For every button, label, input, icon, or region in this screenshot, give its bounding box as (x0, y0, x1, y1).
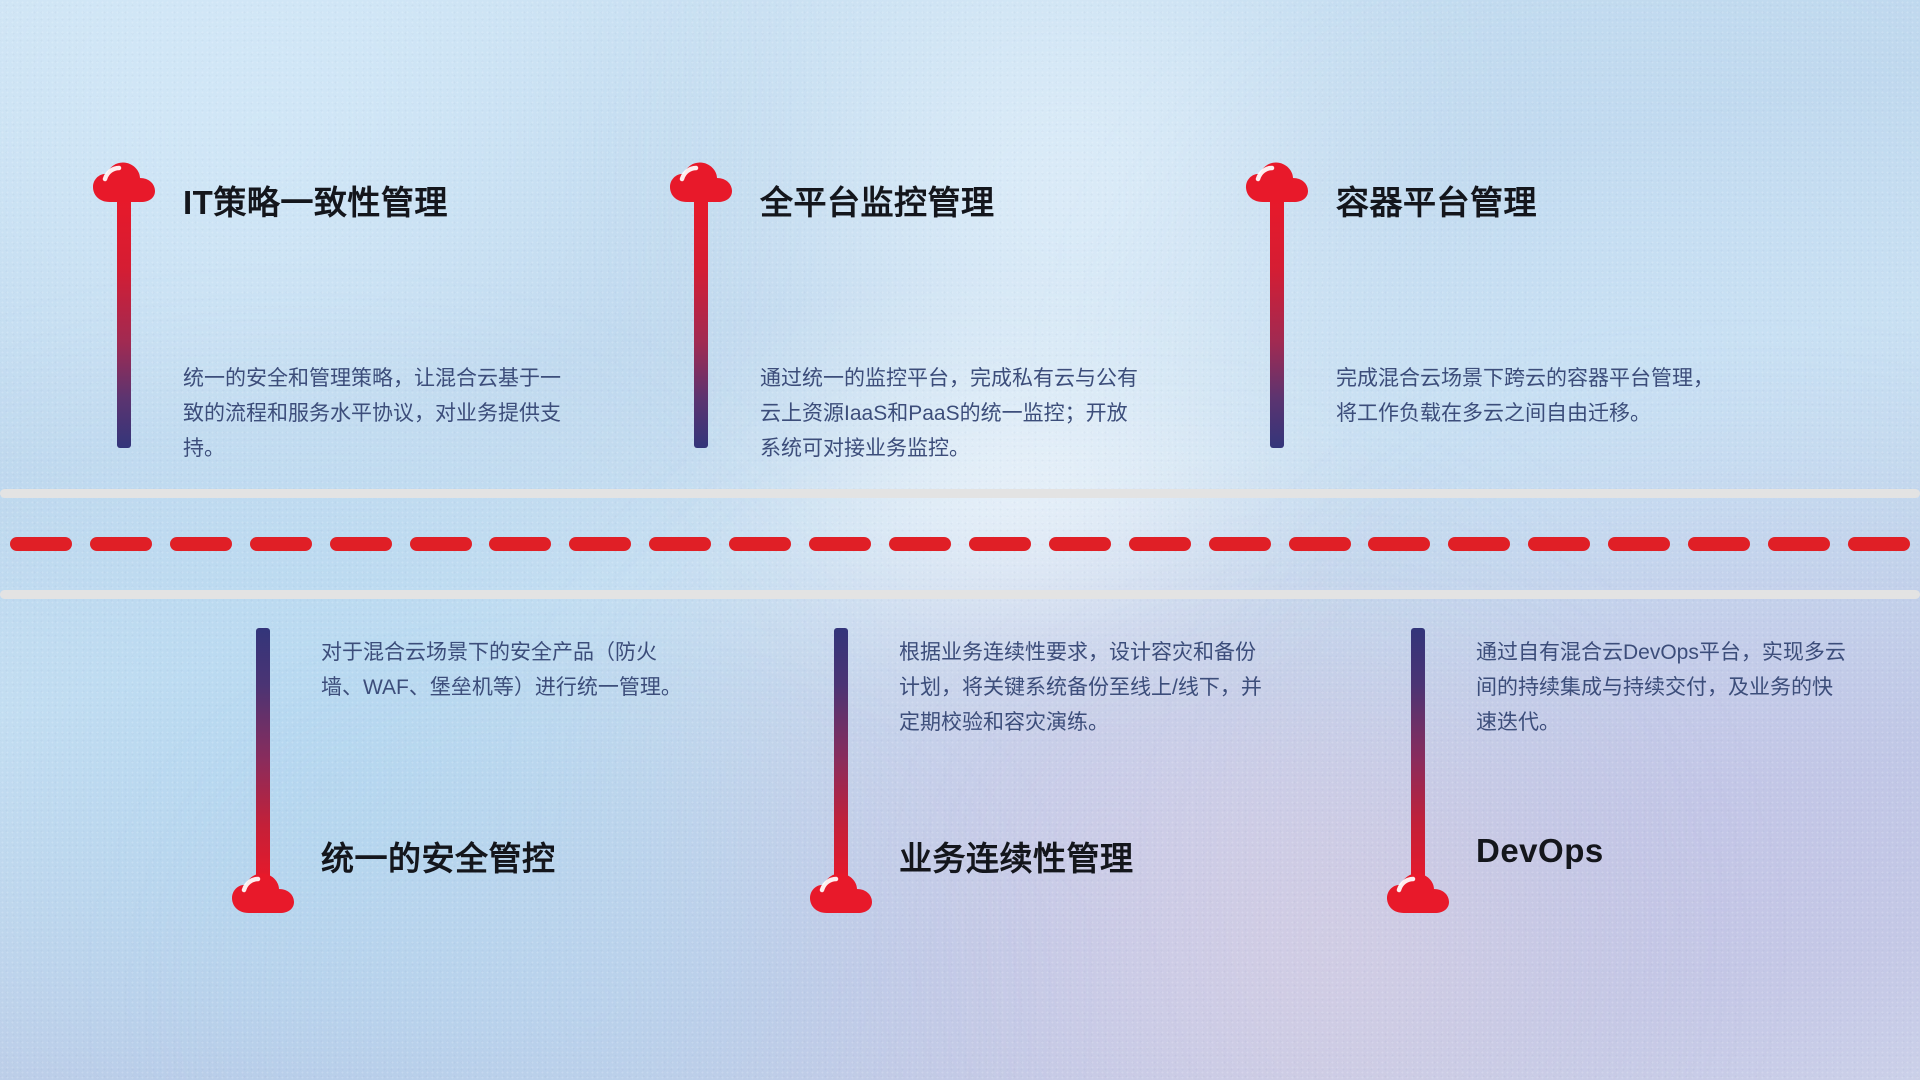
dash-segment (809, 537, 871, 551)
item-description: 通过自有混合云DevOps平台，实现多云间的持续集成与持续交付，及业务的快速迭代… (1476, 635, 1848, 740)
dash-segment (1209, 537, 1271, 551)
dash-segment (10, 537, 72, 551)
dashed-red-line (0, 537, 1920, 551)
dash-segment (1129, 537, 1191, 551)
dash-segment (90, 537, 152, 551)
divider-rule-top (0, 489, 1920, 498)
item-title: 业务连续性管理 (899, 832, 1134, 880)
dash-segment (410, 537, 472, 551)
dash-segment (969, 537, 1031, 551)
item-description: 根据业务连续性要求，设计容灾和备份计划，将关键系统备份至线上/线下，并定期校验和… (899, 635, 1271, 740)
timeline-stem (1270, 198, 1284, 448)
timeline-stem (1411, 628, 1425, 882)
dash-segment (1289, 537, 1351, 551)
dash-segment (1688, 537, 1750, 551)
item-title: 统一的安全管控 (321, 832, 556, 880)
cloud-icon (1386, 871, 1450, 916)
dash-segment (1848, 537, 1910, 551)
dash-segment (489, 537, 551, 551)
timeline-stem (834, 628, 848, 882)
item-title: 全平台监控管理 (760, 176, 995, 224)
cloud-icon (231, 871, 295, 916)
dash-segment (1368, 537, 1430, 551)
item-description: 通过统一的监控平台，完成私有云与公有云上资源IaaS和PaaS的统一监控；开放系… (760, 361, 1140, 466)
dash-segment (1049, 537, 1111, 551)
cloud-icon (809, 871, 873, 916)
dash-segment (729, 537, 791, 551)
dash-segment (1768, 537, 1830, 551)
dash-segment (330, 537, 392, 551)
dash-segment (889, 537, 951, 551)
item-title: IT策略一致性管理 (183, 176, 448, 224)
dash-segment (569, 537, 631, 551)
timeline-stem (117, 198, 131, 448)
dash-segment (649, 537, 711, 551)
item-title: DevOps (1476, 832, 1604, 870)
item-description: 统一的安全和管理策略，让混合云基于一致的流程和服务水平协议，对业务提供支持。 (183, 361, 563, 466)
center-divider (0, 489, 1920, 599)
dash-segment (250, 537, 312, 551)
infographic-canvas: IT策略一致性管理 统一的安全和管理策略，让混合云基于一致的流程和服务水平协议，… (0, 0, 1920, 1080)
item-description: 完成混合云场景下跨云的容器平台管理，将工作负载在多云之间自由迁移。 (1336, 361, 1716, 431)
divider-rule-bottom (0, 590, 1920, 599)
dash-segment (1608, 537, 1670, 551)
dash-segment (1528, 537, 1590, 551)
item-title: 容器平台管理 (1336, 176, 1537, 224)
timeline-stem (694, 198, 708, 448)
dash-segment (1448, 537, 1510, 551)
timeline-stem (256, 628, 270, 882)
dash-segment (170, 537, 232, 551)
item-description: 对于混合云场景下的安全产品（防火墙、WAF、堡垒机等）进行统一管理。 (321, 635, 693, 705)
